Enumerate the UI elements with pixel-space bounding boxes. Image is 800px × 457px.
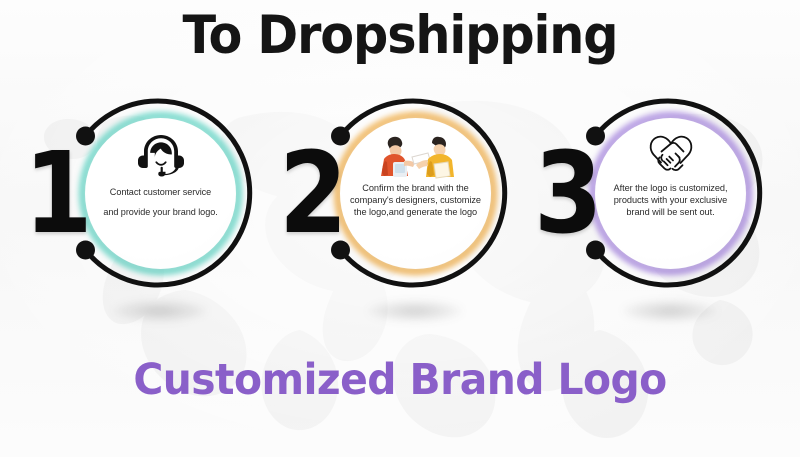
step-disc-shadow <box>367 300 463 322</box>
heart-handshake-icon <box>642 131 700 179</box>
step-disc-1: Contact customer service and provide you… <box>85 118 236 269</box>
step-disc-shadow <box>622 300 718 322</box>
step-description-line: company's designers, customize <box>340 194 491 206</box>
step-description-line: brand will be sent out. <box>595 206 746 218</box>
step-item-2[interactable]: 2 <box>283 90 515 315</box>
step-description-line: the logo,and generate the logo <box>340 206 491 218</box>
step-description-line: products with your exclusive <box>595 194 746 206</box>
step-disc-3: After the logo is customized, products w… <box>595 118 746 269</box>
dropshipping-infographic-poster: To Dropshipping 1 <box>0 0 800 457</box>
step-disc-shadow <box>112 300 208 322</box>
step-description-1: Contact customer service and provide you… <box>85 182 236 222</box>
steps-row: 1 <box>0 90 800 315</box>
two-designers-illustration-icon <box>368 131 464 179</box>
step-description-2: Confirm the brand with the company's des… <box>340 182 491 218</box>
step-description-line: Contact customer service <box>85 182 236 202</box>
step-item-1[interactable]: 1 <box>28 90 260 315</box>
page-title-bottom: Customized Brand Logo <box>20 352 780 408</box>
step-description-line: and provide your brand logo. <box>85 202 236 222</box>
step-item-3[interactable]: 3 <box>538 90 770 315</box>
step-number-2: 2 <box>279 138 348 250</box>
step-description-3: After the logo is customized, products w… <box>595 182 746 218</box>
step-number-1: 1 <box>24 138 93 250</box>
step-disc-2: Confirm the brand with the company's des… <box>340 118 491 269</box>
step-description-line: After the logo is customized, <box>595 182 746 194</box>
step-number-3: 3 <box>534 138 603 250</box>
page-title-top: To Dropshipping <box>28 2 772 70</box>
headset-support-agent-icon <box>137 131 185 179</box>
step-description-line: Confirm the brand with the <box>340 182 491 194</box>
